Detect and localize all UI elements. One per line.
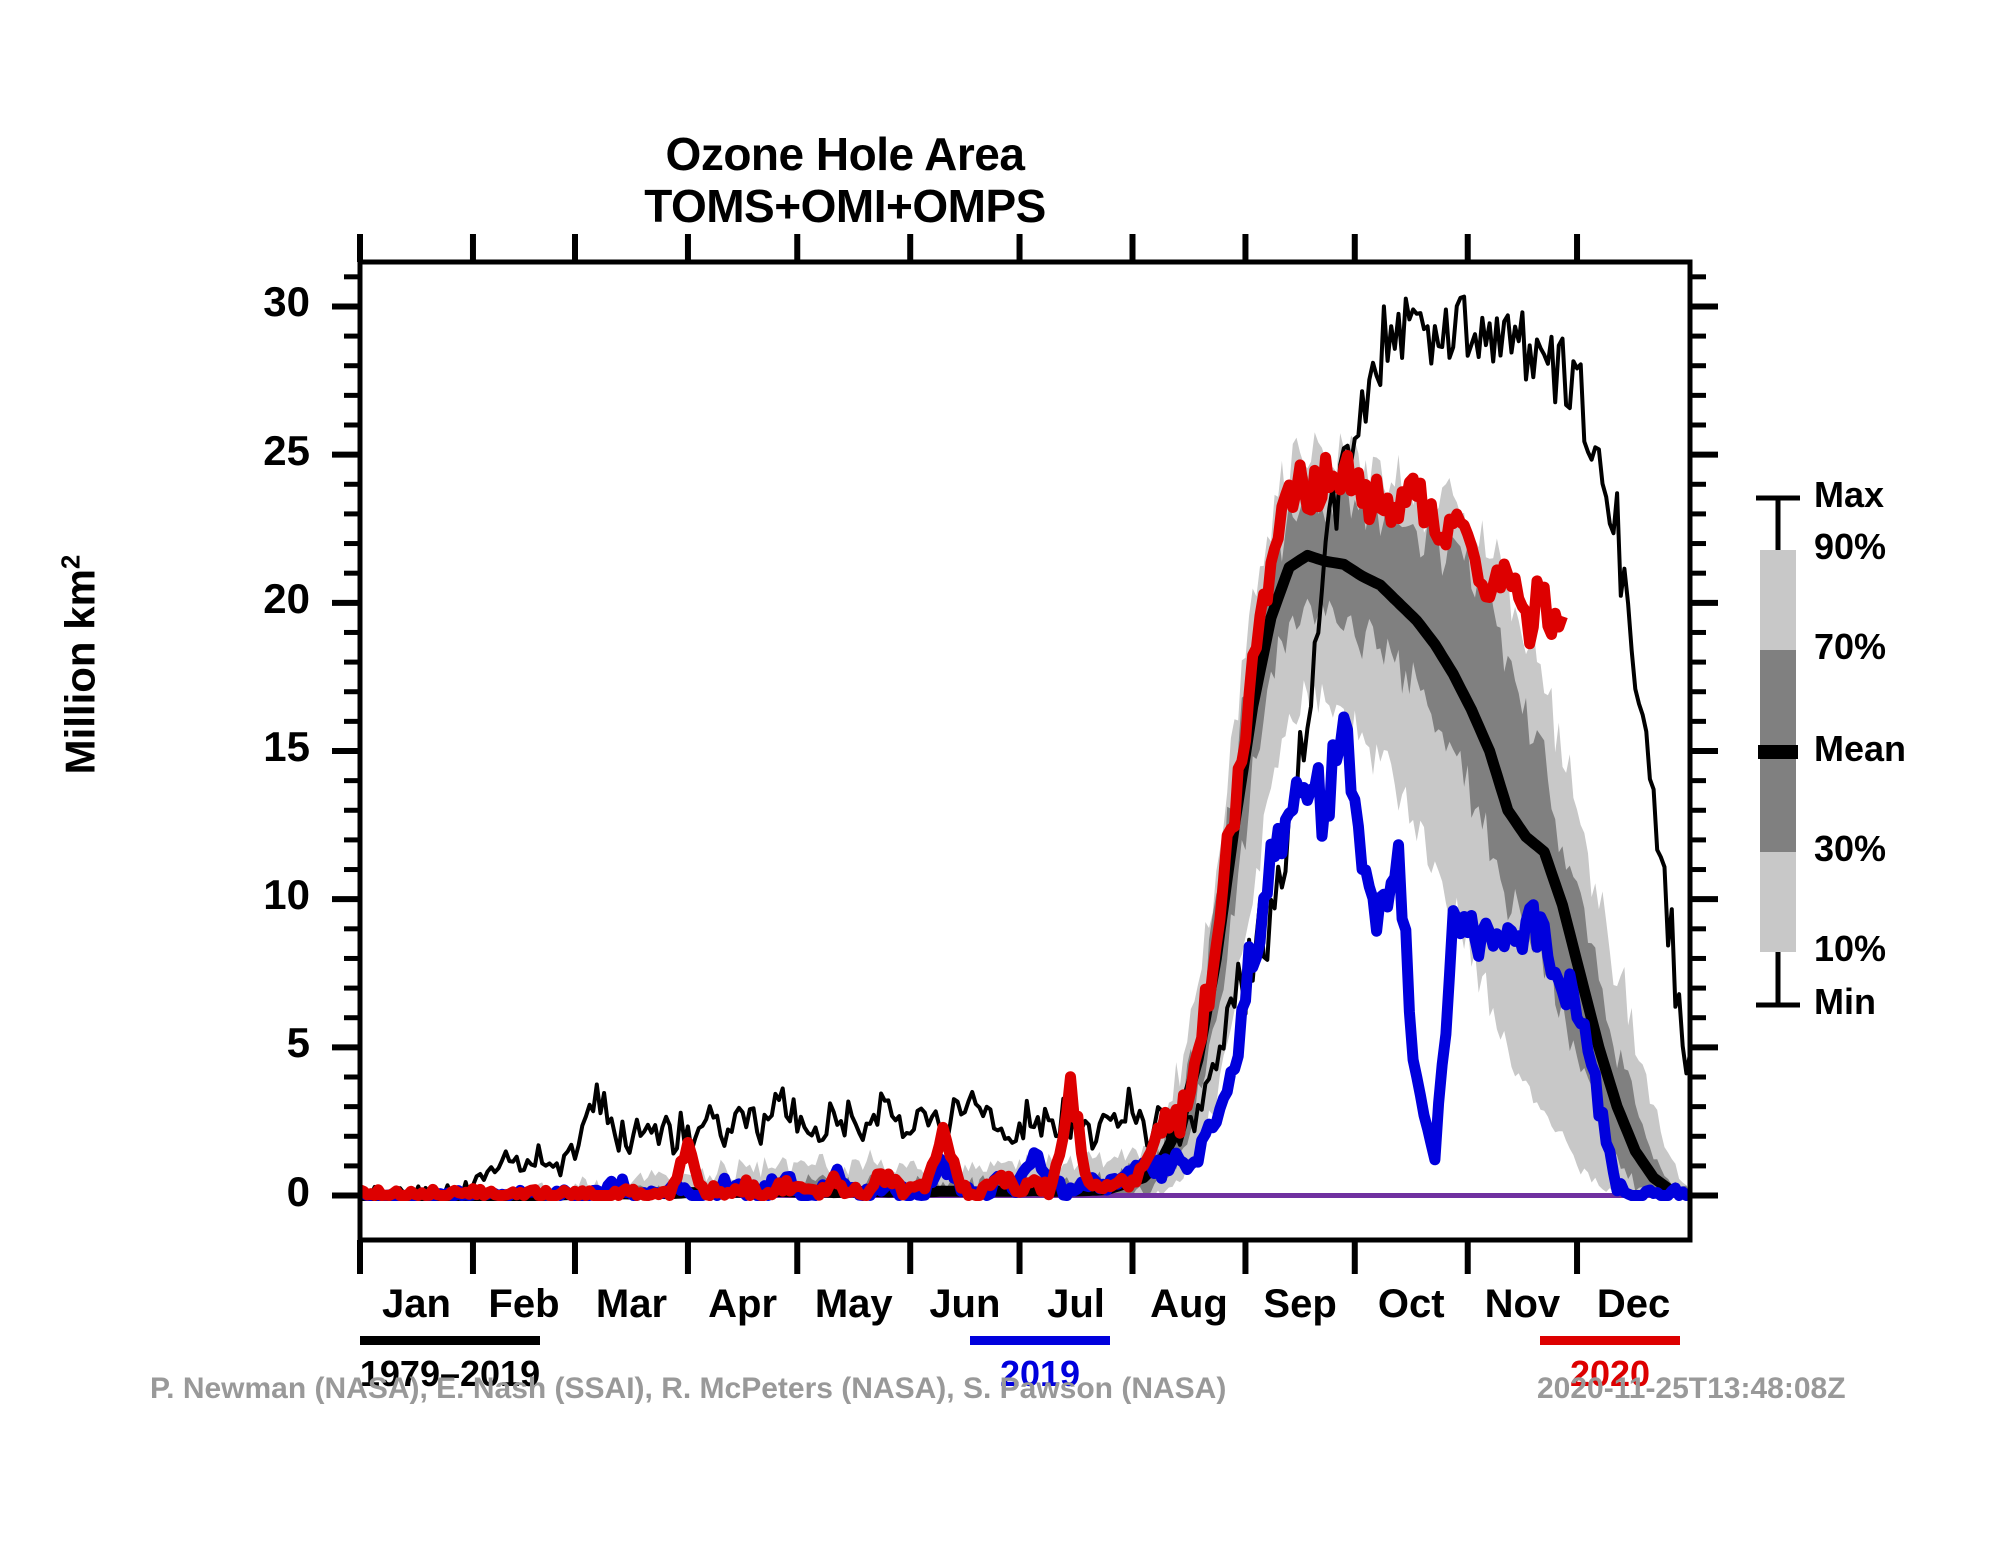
legend-mean-marker — [1758, 745, 1798, 759]
legend-label-30pct: 30% — [1814, 828, 1886, 870]
y-tick-label: 20 — [200, 575, 310, 623]
y-tick-label: 0 — [200, 1168, 310, 1216]
legend-label-min: Min — [1814, 981, 1876, 1023]
y-tick-label: 15 — [200, 723, 310, 771]
legend-label-mean: Mean — [1814, 728, 1906, 770]
legend-label-90pct: 90% — [1814, 526, 1886, 568]
legend-label-70pct: 70% — [1814, 626, 1886, 668]
legend-graphic — [1756, 498, 1800, 1005]
y-tick-label: 25 — [200, 427, 310, 475]
credit-timestamp: 2020-11-25T13:48:08Z — [1537, 1372, 1846, 1406]
legend-label-max: Max — [1814, 474, 1884, 516]
y-tick-label: 30 — [200, 278, 310, 326]
series-key-bar — [360, 1336, 540, 1345]
legend-swatch-10-30 — [1760, 852, 1796, 952]
legend-swatch-70-90 — [1760, 550, 1796, 650]
series-key-bar — [1540, 1336, 1680, 1345]
credit-authors: P. Newman (NASA), E. Nash (SSAI), R. McP… — [150, 1372, 1226, 1406]
x-tick-label-dec: Dec — [1554, 1282, 1714, 1327]
y-tick-label: 10 — [200, 871, 310, 919]
legend-label-10pct: 10% — [1814, 928, 1886, 970]
series-key-bar — [970, 1336, 1110, 1345]
y-tick-label: 5 — [200, 1019, 310, 1067]
